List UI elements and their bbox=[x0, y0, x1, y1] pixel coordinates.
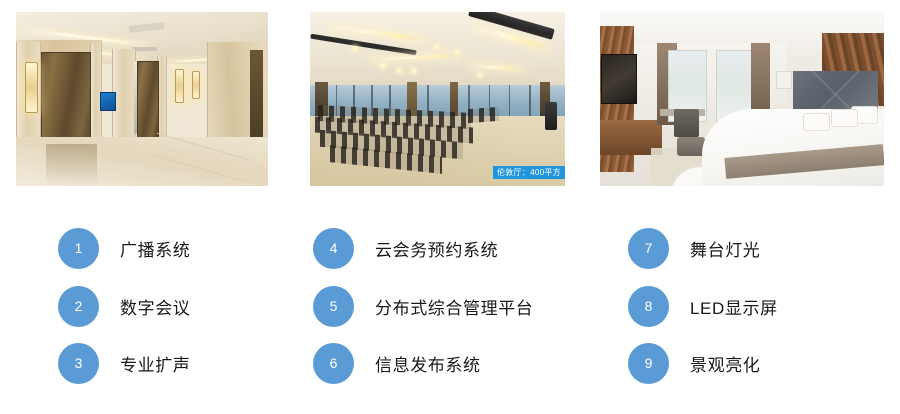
item-number-badge: 9 bbox=[628, 343, 669, 384]
systems-column-2: 4 云会务预约系统 5 分布式综合管理平台 6 信息发布系统 bbox=[300, 196, 600, 414]
item-label: 云会务预约系统 bbox=[375, 236, 498, 261]
item-label: 舞台灯光 bbox=[690, 236, 760, 261]
list-item[interactable]: 5 分布式综合管理平台 bbox=[313, 285, 533, 327]
item-number-badge: 7 bbox=[628, 228, 669, 269]
lobby-wall-display bbox=[100, 92, 116, 111]
list-item[interactable]: 3 专业扩声 bbox=[58, 342, 190, 384]
list-item[interactable]: 7 舞台灯光 bbox=[628, 227, 760, 269]
list-item[interactable]: 1 广播系统 bbox=[58, 227, 190, 269]
item-number-badge: 2 bbox=[58, 286, 99, 327]
guest-room-tv bbox=[601, 54, 637, 105]
photo-conference-hall: 伦敦厅：400平方 bbox=[310, 12, 565, 186]
item-label: 广播系统 bbox=[120, 236, 190, 261]
systems-column-3: 7 舞台灯光 8 LED显示屏 9 景观亮化 bbox=[600, 196, 900, 414]
item-number-badge: 1 bbox=[58, 228, 99, 269]
item-label: 数字会议 bbox=[120, 294, 190, 319]
item-label: 分布式综合管理平台 bbox=[375, 294, 533, 319]
guest-room-illustration bbox=[600, 12, 884, 186]
item-number-badge: 3 bbox=[58, 343, 99, 384]
item-label: 专业扩声 bbox=[120, 351, 190, 376]
item-number-badge: 8 bbox=[628, 286, 669, 327]
item-number-badge: 5 bbox=[313, 286, 354, 327]
list-item[interactable]: 4 云会务预约系统 bbox=[313, 227, 498, 269]
hall-area-caption: 伦敦厅：400平方 bbox=[493, 166, 565, 179]
item-label: LED显示屏 bbox=[690, 294, 778, 319]
list-item[interactable]: 9 景观亮化 bbox=[628, 342, 760, 384]
photo-gallery: 伦敦厅：400平方 bbox=[0, 0, 900, 196]
systems-column-1: 1 广播系统 2 数字会议 3 专业扩声 bbox=[0, 196, 300, 414]
item-label: 景观亮化 bbox=[690, 351, 760, 376]
item-number-badge: 6 bbox=[313, 343, 354, 384]
item-label: 信息发布系统 bbox=[375, 351, 481, 376]
systems-list: 1 广播系统 2 数字会议 3 专业扩声 4 云会务预约系统 5 分布式综合管理… bbox=[0, 196, 900, 414]
list-item[interactable]: 8 LED显示屏 bbox=[628, 285, 778, 327]
photo-hotel-lobby bbox=[16, 12, 268, 186]
conference-hall-illustration: 伦敦厅：400平方 bbox=[310, 12, 565, 186]
lobby-illustration bbox=[16, 12, 268, 186]
list-item[interactable]: 2 数字会议 bbox=[58, 285, 190, 327]
list-item[interactable]: 6 信息发布系统 bbox=[313, 342, 481, 384]
photo-guest-room bbox=[600, 12, 884, 186]
item-number-badge: 4 bbox=[313, 228, 354, 269]
